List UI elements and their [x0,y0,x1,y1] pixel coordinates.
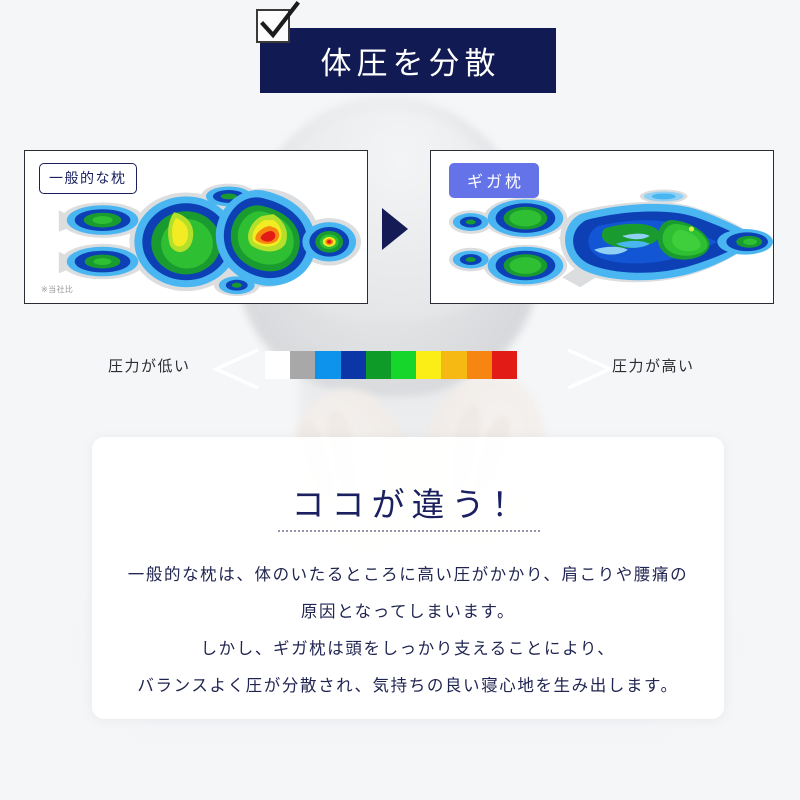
legend-label-high: 圧力が高い [612,355,695,376]
panel-ordinary-pillow: 一般的な枕 ※当社比 [24,150,368,304]
scale-swatch-3 [341,351,366,379]
info-card-body: 一般的な枕は、体のいたるところに高い圧がかかり、肩こりや腰痛の原因となってしまい… [116,557,700,705]
header: 体圧を分散 [0,0,800,110]
blob-small-top [644,191,684,201]
info-card-line-1: 原因となってしまいます。 [116,594,700,631]
scale-swatch-0 [265,351,290,379]
info-card: ココが違う！ 一般的な枕は、体のいたるところに高い圧がかかり、肩こりや腰痛の原因… [92,437,724,719]
legend-label-low: 圧力が低い [108,355,191,376]
checkbox-checked-icon [256,9,290,43]
scale-swatch-5 [391,351,416,379]
info-card-line-3: バランスよく圧が分散され、気持ちの良い寝心地を生み出します。 [116,668,700,705]
scale-swatch-2 [315,351,340,379]
scale-swatch-6 [416,351,441,379]
blob-left-shoulder-lower [67,247,139,277]
blob-left-shoulder-upper [67,205,139,235]
scale-swatch-9 [492,351,517,379]
info-card-line-2: しかし、ギガ枕は頭をしっかり支えることにより、 [116,631,700,668]
scale-swatch-8 [467,351,492,379]
blob-left-shoulder-lower [488,247,564,285]
info-card-line-0: 一般的な枕は、体のいたるところに高い圧がかかり、肩こりや腰痛の [116,557,700,594]
title-divider [278,530,540,532]
scale-swatch-1 [290,351,315,379]
chevron-left-icon [208,346,264,397]
blob-left-shoulder-upper [488,199,564,237]
footnote-ordinary-pillow: ※当社比 [41,284,73,295]
right-triangle-icon [382,208,408,250]
scale-swatch-7 [441,351,466,379]
scale-swatch-4 [366,351,391,379]
chevron-right-icon [562,346,618,397]
blob-right-spot [302,222,356,261]
page-title-banner: 体圧を分散 [260,28,556,93]
info-card-title: ココが違う！ [92,478,724,526]
blob-far-left-upper [453,213,489,231]
blob-right-spot [717,229,773,255]
badge-ordinary-pillow: 一般的な枕 [39,163,137,194]
pressure-color-scale [265,351,517,379]
page-title: 体圧を分散 [316,38,501,83]
blob-far-left-lower [453,251,489,269]
badge-giga-pillow: ギガ枕 [449,163,539,198]
infographic-page: 体圧を分散 [0,0,800,800]
panel-giga-pillow: ギガ枕 [430,150,774,304]
